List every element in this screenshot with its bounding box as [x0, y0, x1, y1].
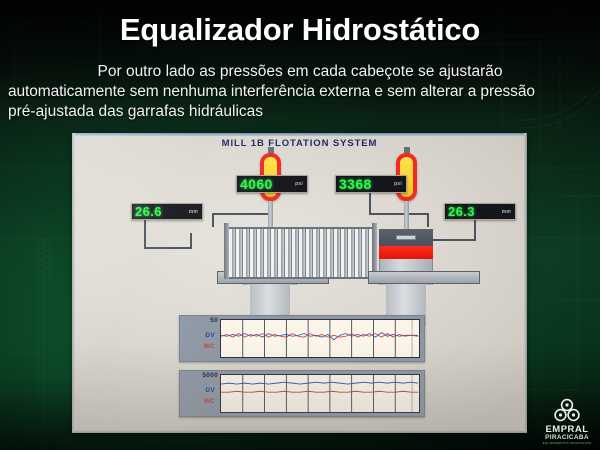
page-title: Equalizador Hidrostático	[0, 12, 600, 48]
readout-pressure-right-unit: psi	[394, 181, 403, 187]
trend-chart-1-scale: 50	[210, 317, 218, 324]
hmi-screen-photo: MILL 1B FLOTATION SYSTEM	[72, 133, 527, 433]
body-line-3: pré-ajustada das garrafas hidráulicas	[8, 102, 592, 122]
leader-line-lvl-left-v2	[190, 233, 192, 249]
trend-chart-1-series-dv-label: DV	[205, 332, 215, 339]
trefoil-icon	[550, 398, 584, 424]
readout-pressure-right[interactable]: 3368 psi	[335, 175, 407, 193]
trend-chart-2-series-wc-label: WC	[204, 398, 215, 405]
hmi-bezel-left	[72, 133, 75, 433]
readout-level-left[interactable]: 26.6 mm	[131, 203, 203, 220]
leader-line-prs-left-v2	[212, 213, 214, 227]
cylinder-port-right	[396, 235, 416, 240]
leader-line-prs-right-v2	[427, 213, 429, 227]
trend-chart-1-labels: 50 DV WC	[180, 316, 220, 361]
readout-pressure-left-unit: psi	[295, 181, 304, 187]
readout-pressure-left[interactable]: 4060 psi	[236, 175, 308, 193]
readout-pressure-left-value: 4060	[240, 176, 273, 192]
readout-level-right[interactable]: 26.3 mm	[444, 203, 516, 220]
company-logo: EMPRAL PIRACICABA EQUIPAMENTOS INDUSTRIA…	[540, 398, 594, 444]
leader-line-prs-left-h	[212, 213, 273, 215]
leader-line-lvl-right-v	[474, 220, 476, 241]
mounting-flange-right	[368, 271, 480, 284]
hmi-bezel-top	[72, 133, 527, 136]
leader-line-prs-right-v	[369, 193, 371, 215]
readout-level-left-value: 26.6	[135, 204, 162, 219]
cylinder-red-band-right	[379, 246, 433, 259]
slide-canvas: Equalizador Hidrostático Por outro lado …	[0, 0, 600, 450]
logo-company-name: EMPRAL	[540, 425, 594, 434]
logo-tagline: EQUIPAMENTOS INDUSTRIAIS	[540, 441, 594, 445]
body-line-1: Por outro lado as pressões em cada cabeç…	[8, 62, 592, 82]
readout-level-right-unit: mm	[502, 209, 512, 215]
slide-body-text: Por outro lado as pressões em cada cabeç…	[8, 62, 592, 122]
leader-line-prs-right-h	[369, 213, 429, 215]
trend-chart-2[interactable]: 5000 DV WC	[179, 370, 425, 417]
trend-chart-2-plot	[220, 374, 420, 413]
hmi-bezel-right	[524, 133, 527, 433]
readout-pressure-right-value: 3368	[339, 176, 372, 192]
trend-chart-1-plot	[220, 319, 420, 358]
trend-chart-1-series-wc-label: WC	[204, 343, 215, 350]
bellows-coupling	[229, 227, 372, 279]
trend-chart-2-scale: 5000	[202, 372, 218, 379]
trend-chart-2-labels: 5000 DV WC	[180, 371, 220, 416]
logo-city: PIRACICABA	[540, 434, 594, 441]
hmi-screen-title: MILL 1B FLOTATION SYSTEM	[72, 138, 527, 149]
leader-line-lvl-left-h	[144, 247, 192, 249]
readout-level-left-unit: mm	[189, 209, 199, 215]
hmi-bezel-bottom	[72, 430, 527, 433]
readout-level-right-value: 26.3	[448, 204, 475, 219]
leader-line-lvl-left-v	[144, 220, 146, 249]
body-line-2: automaticamente sem nenhuma interferênci…	[8, 82, 592, 102]
trend-chart-2-series-dv-label: DV	[205, 387, 215, 394]
trend-chart-1[interactable]: 50 DV WC	[179, 315, 425, 362]
